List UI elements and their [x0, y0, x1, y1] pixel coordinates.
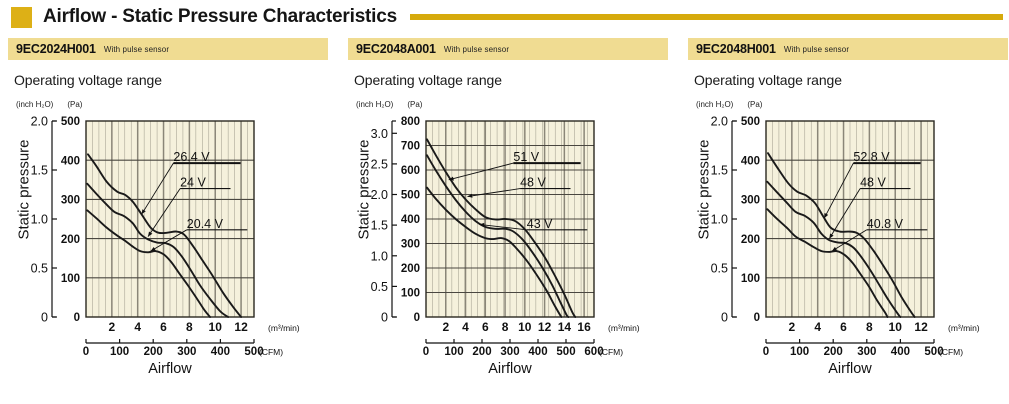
y-tick-inh2o: 1.0: [31, 213, 48, 227]
y-tick-pa: 500: [61, 116, 80, 128]
x-unit-cmm: (m³/min): [268, 323, 300, 333]
annotation-label-0: 52.8 V: [853, 150, 890, 164]
y-tick-pa: 300: [741, 195, 760, 207]
y-tick-inh2o: 1.0: [371, 249, 388, 263]
x-tick-cmm: 8: [866, 320, 873, 334]
annotation-label-0: 26.4 V: [173, 150, 210, 164]
y-tick-inh2o: 1.5: [711, 164, 728, 178]
y-tick-inh2o: 0: [721, 311, 728, 325]
chart-svg: 51 V48 V43 V010020030040050060070080000.…: [348, 111, 660, 373]
x-unit-cfm: (CFM): [259, 347, 283, 357]
model-note: With pulse sensor: [104, 45, 169, 54]
y-tick-inh2o: 1.0: [711, 213, 728, 227]
y-tick-inh2o: 1.5: [31, 164, 48, 178]
y-tick-pa: 200: [61, 234, 80, 246]
x-unit-cmm: (m³/min): [608, 323, 640, 333]
page-title: Airflow - Static Pressure Characteristic…: [43, 6, 397, 28]
x-unit-cmm: (m³/min): [948, 323, 980, 333]
x-tick-cmm: 4: [134, 320, 141, 334]
unit-inch-h2o: (inch H₂O): [696, 100, 733, 109]
x-tick-cfm: 300: [177, 346, 196, 358]
chart-canvas: Static pressure 26.4 V24 V20.4 V01002003…: [8, 111, 328, 376]
axis-unit-row: (inch H₂O) (Pa): [696, 100, 1008, 109]
x-tick-cfm: 0: [423, 346, 429, 358]
model-note: With pulse sensor: [444, 45, 509, 54]
y-tick-inh2o: 2.0: [371, 188, 388, 202]
y-tick-pa: 400: [61, 155, 80, 167]
panel-subtitle: Operating voltage range: [694, 72, 1008, 88]
page-header: Airflow - Static Pressure Characteristic…: [0, 0, 1009, 34]
x-tick-cfm: 200: [144, 346, 163, 358]
y-axis-title: Static pressure: [696, 139, 713, 239]
y-tick-pa: 0: [754, 312, 760, 324]
chart-canvas: Static pressure 51 V48 V43 V010020030040…: [348, 111, 668, 376]
x-tick-cmm: 8: [502, 320, 509, 334]
x-tick-cmm: 10: [889, 320, 903, 334]
y-tick-pa: 200: [741, 234, 760, 246]
model-name: 9EC2048H001: [696, 42, 776, 56]
x-axis-title: Airflow: [828, 361, 872, 373]
y-tick-pa: 400: [741, 155, 760, 167]
y-tick-pa: 300: [61, 195, 80, 207]
x-tick-cfm: 400: [528, 346, 547, 358]
x-axis-title: Airflow: [488, 361, 532, 373]
x-tick-cfm: 500: [556, 346, 575, 358]
x-tick-cfm: 100: [444, 346, 463, 358]
y-axis-title: Static pressure: [16, 139, 33, 239]
y-tick-inh2o: 0.5: [711, 262, 728, 276]
y-tick-pa: 200: [401, 263, 420, 275]
panel-subtitle: Operating voltage range: [354, 72, 668, 88]
x-tick-cfm: 0: [83, 346, 89, 358]
y-tick-pa: 100: [741, 273, 760, 285]
y-tick-pa: 400: [401, 214, 420, 226]
x-tick-cmm: 12: [538, 320, 552, 334]
x-tick-cfm: 0: [763, 346, 769, 358]
y-tick-pa: 500: [401, 190, 420, 202]
x-unit-cfm: (CFM): [599, 347, 623, 357]
y-tick-pa: 800: [401, 116, 420, 128]
y-tick-inh2o: 0: [41, 311, 48, 325]
y-tick-pa: 100: [61, 273, 80, 285]
y-tick-pa: 700: [401, 141, 420, 153]
y-tick-inh2o: 0.5: [31, 262, 48, 276]
chart-panel-9EC2048A001: 9EC2048A001 With pulse sensor Operating …: [348, 38, 668, 398]
chart-svg: 52.8 V48 V40.8 V010020030040050000.51.01…: [688, 111, 1000, 373]
y-tick-pa: 600: [401, 165, 420, 177]
annotation-label-2: 20.4 V: [187, 217, 224, 231]
model-name: 9EC2048A001: [356, 42, 436, 56]
model-bar: 9EC2048H001 With pulse sensor: [688, 38, 1008, 60]
annotation-label-1: 24 V: [180, 176, 206, 190]
x-tick-cmm: 10: [209, 320, 223, 334]
x-tick-cmm: 4: [814, 320, 821, 334]
y-tick-pa: 100: [401, 288, 420, 300]
x-tick-cfm: 100: [790, 346, 809, 358]
x-tick-cfm: 100: [110, 346, 129, 358]
unit-inch-h2o: (inch H₂O): [356, 100, 393, 109]
title-rule-divider: [410, 14, 1003, 20]
y-tick-inh2o: 0: [381, 311, 388, 325]
x-tick-cfm: 400: [891, 346, 910, 358]
y-tick-inh2o: 2.5: [371, 158, 388, 172]
x-axis-title: Airflow: [148, 361, 192, 373]
annotation-label-2: 40.8 V: [867, 217, 904, 231]
y-tick-pa: 0: [414, 312, 420, 324]
axis-unit-row: (inch H₂O) (Pa): [356, 100, 668, 109]
annotation-label-1: 48 V: [860, 176, 886, 190]
x-tick-cfm: 300: [500, 346, 519, 358]
unit-pa: (Pa): [747, 100, 762, 109]
y-axis-title: Static pressure: [356, 139, 373, 239]
chart-panel-9EC2024H001: 9EC2024H001 With pulse sensor Operating …: [8, 38, 328, 398]
annotation-label-2: 43 V: [527, 217, 553, 231]
x-tick-cmm: 2: [442, 320, 449, 334]
x-tick-cmm: 6: [840, 320, 847, 334]
y-tick-inh2o: 2.0: [31, 115, 48, 129]
unit-pa: (Pa): [67, 100, 82, 109]
chart-panel-9EC2048H001: 9EC2048H001 With pulse sensor Operating …: [688, 38, 1008, 398]
unit-pa: (Pa): [407, 100, 422, 109]
y-tick-pa: 300: [401, 239, 420, 251]
x-tick-cfm: 200: [472, 346, 491, 358]
model-note: With pulse sensor: [784, 45, 849, 54]
y-tick-inh2o: 0.5: [371, 280, 388, 294]
axis-unit-row: (inch H₂O) (Pa): [16, 100, 328, 109]
annotation-label-0: 51 V: [513, 150, 539, 164]
x-tick-cmm: 2: [108, 320, 115, 334]
x-tick-cmm: 14: [558, 320, 572, 334]
x-tick-cmm: 6: [160, 320, 167, 334]
y-tick-inh2o: 1.5: [371, 219, 388, 233]
x-tick-cmm: 16: [577, 320, 591, 334]
x-tick-cmm: 8: [186, 320, 193, 334]
chart-svg: 26.4 V24 V20.4 V010020030040050000.51.01…: [8, 111, 320, 373]
chart-canvas: Static pressure 52.8 V48 V40.8 V01002003…: [688, 111, 1008, 376]
annotation-label-1: 48 V: [520, 176, 546, 190]
x-tick-cmm: 12: [914, 320, 928, 334]
x-tick-cmm: 6: [482, 320, 489, 334]
x-tick-cmm: 2: [788, 320, 795, 334]
unit-inch-h2o: (inch H₂O): [16, 100, 53, 109]
x-tick-cmm: 4: [462, 320, 469, 334]
title-swatch-icon: [11, 7, 32, 28]
model-name: 9EC2024H001: [16, 42, 96, 56]
x-tick-cmm: 12: [234, 320, 248, 334]
x-tick-cfm: 400: [211, 346, 230, 358]
y-tick-inh2o: 3.0: [371, 127, 388, 141]
y-tick-pa: 500: [741, 116, 760, 128]
model-bar: 9EC2048A001 With pulse sensor: [348, 38, 668, 60]
x-tick-cfm: 300: [857, 346, 876, 358]
x-unit-cfm: (CFM): [939, 347, 963, 357]
y-tick-inh2o: 2.0: [711, 115, 728, 129]
y-tick-pa: 0: [74, 312, 80, 324]
model-bar: 9EC2024H001 With pulse sensor: [8, 38, 328, 60]
panel-subtitle: Operating voltage range: [14, 72, 328, 88]
x-tick-cmm: 10: [518, 320, 532, 334]
x-tick-cfm: 200: [824, 346, 843, 358]
